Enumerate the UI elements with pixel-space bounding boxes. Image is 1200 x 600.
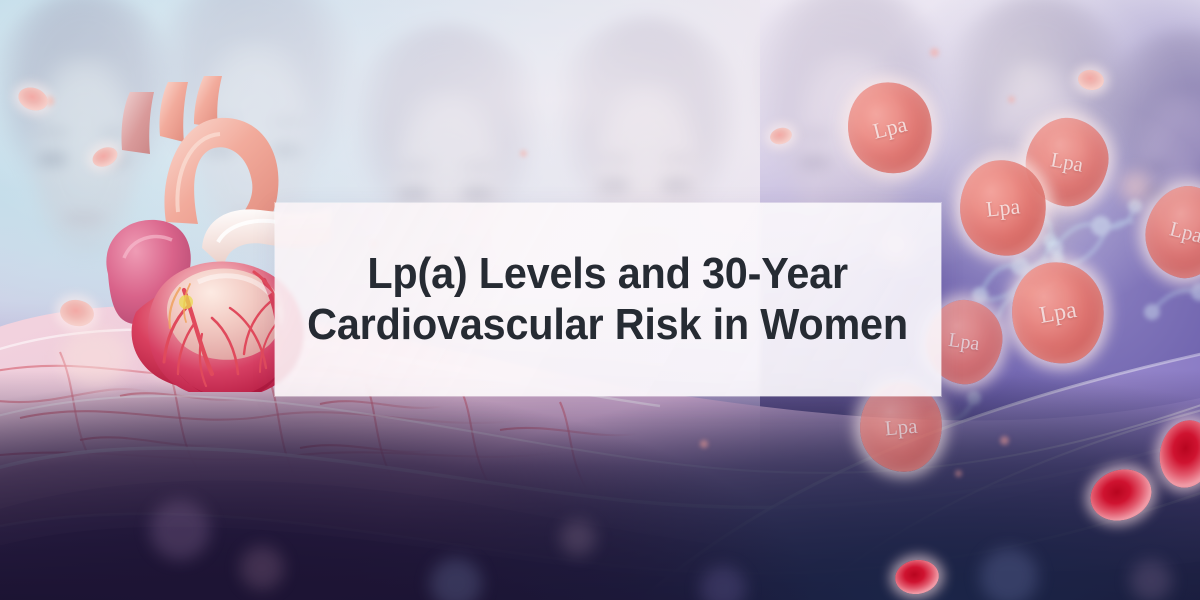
heart-superior-vena-cava [121, 92, 154, 154]
heart-brachiocephalic-artery [159, 82, 188, 142]
title-panel: Lp(a) Levels and 30-Year Cardiovascular … [275, 203, 941, 396]
red-blood-cell [893, 557, 941, 597]
heart-node-marker [179, 295, 193, 309]
red-blood-cell [15, 84, 51, 115]
red-blood-cell [768, 126, 793, 147]
banner-image: LpaLpaLpaLpaLpaLpaLpa [0, 0, 1200, 600]
red-blood-cell [1154, 415, 1200, 493]
red-blood-cell [1084, 462, 1158, 529]
title-line-1: Lp(a) Levels and 30-Year [368, 249, 849, 299]
title-line-2: Cardiovascular Risk in Women [308, 300, 909, 350]
red-blood-cell [1077, 68, 1106, 91]
